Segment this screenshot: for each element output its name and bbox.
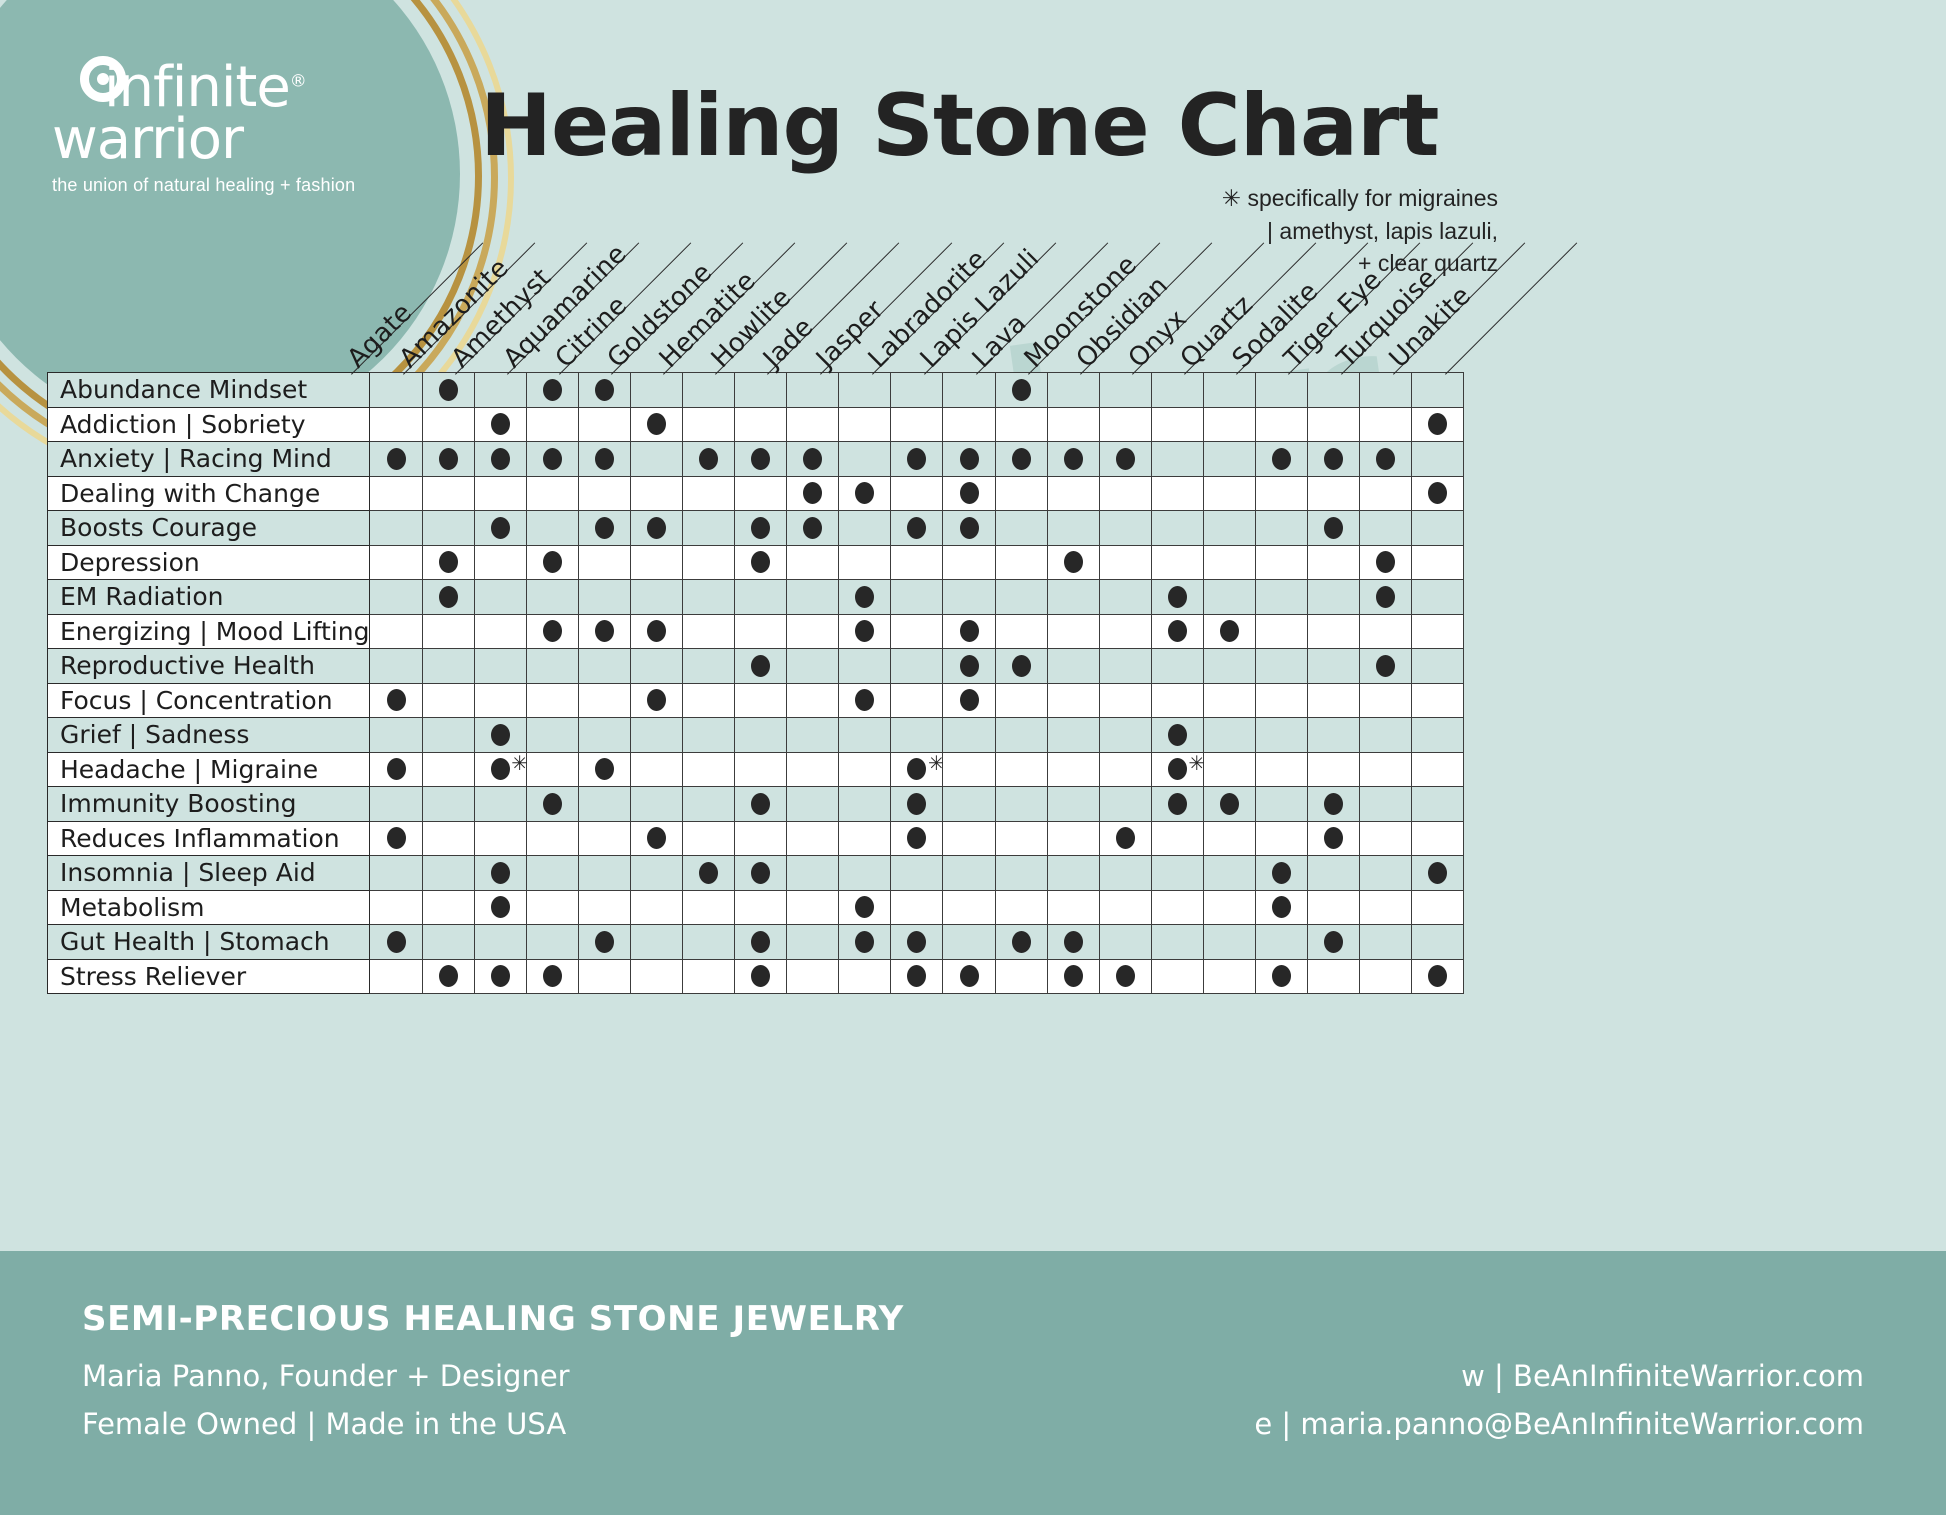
cell-agate [370,752,422,787]
benefit-dot-icon [387,931,406,953]
benefit-dot-icon [491,448,510,470]
cell-unakite [1412,856,1464,891]
cell-turquoise [1360,752,1412,787]
benefit-dot-icon [595,758,614,780]
cell-lapis-lazuli [943,545,995,580]
cell-goldstone [630,614,682,649]
table-row: Addiction | Sobriety [48,407,1464,442]
cell-lapis-lazuli [943,787,995,822]
table-row: Stress Reliever [48,959,1464,994]
benefit-dot-icon [1428,413,1447,435]
cell-sodalite [1256,683,1308,718]
cell-labradorite [891,614,943,649]
benefit-dot-icon [491,758,510,780]
cell-howlite [735,373,787,408]
cell-lava [995,476,1047,511]
benefit-dot-icon [960,620,979,642]
benefit-dot-icon [1324,931,1343,953]
cell-howlite [735,718,787,753]
cell-howlite [735,407,787,442]
cell-labradorite [891,373,943,408]
benefit-dot-icon [855,931,874,953]
benefit-dot-icon [751,551,770,573]
cell-moonstone [1047,959,1099,994]
cell-amethyst [474,925,526,960]
cell-jasper [839,821,891,856]
cell-hematite [683,511,735,546]
cell-obsidian [1099,718,1151,753]
cell-moonstone [1047,649,1099,684]
cell-onyx [1151,649,1203,684]
cell-moonstone [1047,476,1099,511]
cell-lava [995,614,1047,649]
cell-hematite [683,787,735,822]
cell-aquamarine [526,821,578,856]
cell-amethyst [474,511,526,546]
benefit-dot-icon [387,448,406,470]
table-row: Abundance Mindset [48,373,1464,408]
cell-labradorite [891,856,943,891]
cell-quartz [1203,683,1255,718]
benefit-dot-icon [647,620,666,642]
cell-lava [995,407,1047,442]
cell-agate [370,373,422,408]
cell-amethyst [474,856,526,891]
cell-onyx [1151,925,1203,960]
benefit-dot-icon [387,827,406,849]
cell-howlite [735,925,787,960]
cell-hematite [683,649,735,684]
cell-quartz [1203,649,1255,684]
benefit-dot-icon [1064,965,1083,987]
benefit-dot-icon [1012,448,1031,470]
table-row: Anxiety | Racing Mind [48,442,1464,477]
benefit-dot-icon [1324,793,1343,815]
benefit-dot-icon [439,379,458,401]
cell-lapis-lazuli [943,649,995,684]
cell-turquoise [1360,718,1412,753]
cell-labradorite: ✳ [891,752,943,787]
benefit-dot-icon [1012,655,1031,677]
cell-aquamarine [526,649,578,684]
cell-amazonite [422,476,474,511]
benefit-dot-icon [907,793,926,815]
cell-goldstone [630,890,682,925]
cell-jade [787,476,839,511]
cell-onyx [1151,787,1203,822]
table-row: Immunity Boosting [48,787,1464,822]
table-row: Metabolism [48,890,1464,925]
cell-sodalite [1256,614,1308,649]
cell-labradorite [891,718,943,753]
cell-turquoise [1360,545,1412,580]
cell-labradorite [891,511,943,546]
cell-obsidian [1099,890,1151,925]
cell-aquamarine [526,959,578,994]
cell-agate [370,442,422,477]
cell-lava [995,959,1047,994]
footer-email[interactable]: e | maria.panno@BeAnInfiniteWarrior.com [1254,1407,1864,1441]
row-label-anxiety-racing-mind: Anxiety | Racing Mind [48,442,370,477]
cell-amethyst [474,614,526,649]
cell-obsidian [1099,614,1151,649]
cell-jasper [839,959,891,994]
cell-agate [370,614,422,649]
cell-jasper [839,925,891,960]
benefit-dot-icon [439,448,458,470]
benefit-dot-icon [387,758,406,780]
benefit-dot-icon [751,655,770,677]
cell-lava [995,373,1047,408]
cell-obsidian [1099,752,1151,787]
cell-amethyst [474,649,526,684]
cell-lava [995,890,1047,925]
cell-goldstone [630,856,682,891]
cell-aquamarine [526,373,578,408]
cell-citrine [578,476,630,511]
cell-turquoise [1360,511,1412,546]
cell-tiger-eye [1308,407,1360,442]
cell-obsidian [1099,580,1151,615]
cell-agate [370,959,422,994]
cell-moonstone [1047,890,1099,925]
benefit-dot-icon [803,448,822,470]
brand-word-warrior: warrior [52,114,382,166]
benefit-dot-icon [1324,517,1343,539]
migraine-footnote-line-1: ✳ specifically for migraines [1222,182,1498,215]
cell-howlite [735,959,787,994]
cell-jasper [839,683,891,718]
benefit-dot-icon [543,620,562,642]
cell-quartz [1203,545,1255,580]
healing-stone-matrix: Abundance MindsetAddiction | SobrietyAnx… [47,372,1464,994]
cell-quartz [1203,373,1255,408]
benefit-dot-icon [960,517,979,539]
benefit-dot-icon [1376,655,1395,677]
cell-jasper [839,442,891,477]
cell-onyx [1151,511,1203,546]
cell-lava [995,683,1047,718]
footer-website[interactable]: w | BeAnInfiniteWarrior.com [1461,1359,1864,1393]
cell-amethyst [474,442,526,477]
cell-citrine [578,787,630,822]
cell-goldstone [630,442,682,477]
cell-sodalite [1256,821,1308,856]
cell-onyx [1151,442,1203,477]
migraine-footnote-line-3: + clear quartz [1222,247,1498,280]
benefit-dot-icon [1168,586,1187,608]
footer-ownership: Female Owned | Made in the USA [82,1407,566,1441]
cell-quartz [1203,959,1255,994]
cell-jasper [839,752,891,787]
row-label-focus-concentration: Focus | Concentration [48,683,370,718]
table-row: Gut Health | Stomach [48,925,1464,960]
cell-quartz [1203,752,1255,787]
cell-obsidian [1099,511,1151,546]
cell-tiger-eye [1308,821,1360,856]
benefit-dot-icon [1168,620,1187,642]
benefit-dot-icon [1272,448,1291,470]
page-title: Healing Stone Chart [480,76,1439,176]
cell-jasper [839,407,891,442]
cell-howlite [735,752,787,787]
cell-amazonite [422,959,474,994]
cell-unakite [1412,442,1464,477]
benefit-dot-icon [855,620,874,642]
cell-tiger-eye [1308,683,1360,718]
cell-onyx [1151,959,1203,994]
benefit-dot-icon [491,724,510,746]
cell-labradorite [891,959,943,994]
cell-lapis-lazuli [943,373,995,408]
brand-word-infinite: infinite [104,55,290,120]
cell-onyx [1151,614,1203,649]
benefit-dot-icon [543,793,562,815]
cell-labradorite [891,787,943,822]
benefit-dot-icon [1324,827,1343,849]
cell-tiger-eye [1308,856,1360,891]
cell-sodalite [1256,718,1308,753]
table-row: Grief | Sadness [48,718,1464,753]
benefit-dot-icon [803,482,822,504]
cell-amethyst [474,373,526,408]
benefit-dot-icon [751,931,770,953]
benefit-dot-icon [960,965,979,987]
cell-labradorite [891,649,943,684]
cell-lapis-lazuli [943,925,995,960]
cell-sodalite [1256,925,1308,960]
benefit-dot-icon [1064,448,1083,470]
cell-onyx [1151,580,1203,615]
cell-jasper [839,580,891,615]
cell-aquamarine [526,614,578,649]
cell-labradorite [891,580,943,615]
benefit-dot-icon [1272,896,1291,918]
cell-agate [370,787,422,822]
benefit-dot-icon [699,448,718,470]
cell-hematite [683,890,735,925]
table-row: Insomnia | Sleep Aid [48,856,1464,891]
brand-tagline: the union of natural healing + fashion [52,175,382,196]
cell-onyx [1151,890,1203,925]
benefit-dot-icon [1376,586,1395,608]
cell-quartz [1203,614,1255,649]
stone-benefit-table: Abundance MindsetAddiction | SobrietyAnx… [47,372,1464,994]
migraine-footnote-line-2: | amethyst, lapis lazuli, [1222,215,1498,248]
cell-jade [787,580,839,615]
benefit-dot-icon [1012,931,1031,953]
cell-amazonite [422,925,474,960]
cell-citrine [578,718,630,753]
cell-hematite [683,925,735,960]
cell-howlite [735,511,787,546]
cell-tiger-eye [1308,580,1360,615]
cell-tiger-eye [1308,476,1360,511]
registered-trademark-icon: ® [290,71,306,91]
cell-aquamarine [526,511,578,546]
cell-amethyst [474,821,526,856]
row-label-gut-health-stomach: Gut Health | Stomach [48,925,370,960]
cell-amazonite [422,407,474,442]
cell-citrine [578,925,630,960]
cell-sodalite [1256,580,1308,615]
cell-citrine [578,614,630,649]
cell-hematite [683,614,735,649]
cell-jasper [839,476,891,511]
cell-jasper [839,856,891,891]
cell-lava [995,545,1047,580]
cell-citrine [578,821,630,856]
cell-unakite [1412,373,1464,408]
cell-unakite [1412,925,1464,960]
benefit-dot-icon [1116,827,1135,849]
cell-amethyst [474,890,526,925]
cell-sodalite [1256,959,1308,994]
cell-lapis-lazuli [943,511,995,546]
cell-unakite [1412,752,1464,787]
cell-amethyst: ✳ [474,752,526,787]
cell-amazonite [422,580,474,615]
brand-logo: infinite® warrior the union of natural h… [52,62,382,196]
benefit-dot-icon [855,689,874,711]
cell-turquoise [1360,373,1412,408]
benefit-dot-icon [439,551,458,573]
benefit-dot-icon [960,448,979,470]
cell-agate [370,649,422,684]
benefit-dot-icon [907,448,926,470]
cell-jade [787,856,839,891]
benefit-dot-icon [699,862,718,884]
table-row: Boosts Courage [48,511,1464,546]
cell-sodalite [1256,752,1308,787]
cell-onyx [1151,718,1203,753]
cell-unakite [1412,787,1464,822]
cell-moonstone [1047,683,1099,718]
cell-labradorite [891,407,943,442]
cell-obsidian [1099,683,1151,718]
cell-lapis-lazuli [943,683,995,718]
cell-aquamarine [526,752,578,787]
row-label-depression: Depression [48,545,370,580]
benefit-dot-icon [907,758,926,780]
cell-onyx: ✳ [1151,752,1203,787]
cell-lapis-lazuli [943,959,995,994]
cell-unakite [1412,959,1464,994]
cell-amazonite [422,683,474,718]
cell-labradorite [891,821,943,856]
cell-citrine [578,407,630,442]
benefit-dot-icon [1168,758,1187,780]
cell-turquoise [1360,442,1412,477]
cell-goldstone [630,683,682,718]
cell-amethyst [474,580,526,615]
cell-turquoise [1360,959,1412,994]
cell-goldstone [630,476,682,511]
cell-amethyst [474,476,526,511]
row-label-abundance-mindset: Abundance Mindset [48,373,370,408]
cell-labradorite [891,476,943,511]
cell-amazonite [422,545,474,580]
cell-moonstone [1047,718,1099,753]
benefit-dot-icon [543,448,562,470]
cell-goldstone [630,925,682,960]
cell-agate [370,580,422,615]
benefit-dot-icon [1428,482,1447,504]
cell-hematite [683,373,735,408]
cell-goldstone [630,649,682,684]
cell-sodalite [1256,476,1308,511]
cell-quartz [1203,718,1255,753]
cell-amazonite [422,787,474,822]
cell-agate [370,890,422,925]
cell-obsidian [1099,787,1151,822]
cell-goldstone [630,511,682,546]
cell-moonstone [1047,821,1099,856]
cell-lapis-lazuli [943,890,995,925]
table-row: Focus | Concentration [48,683,1464,718]
benefit-dot-icon [1376,551,1395,573]
cell-citrine [578,580,630,615]
cell-aquamarine [526,925,578,960]
cell-hematite [683,545,735,580]
cell-moonstone [1047,373,1099,408]
cell-jade [787,752,839,787]
cell-aquamarine [526,580,578,615]
cell-jasper [839,718,891,753]
cell-amethyst [474,683,526,718]
cell-lava [995,856,1047,891]
cell-lapis-lazuli [943,718,995,753]
cell-unakite [1412,407,1464,442]
cell-moonstone [1047,580,1099,615]
row-label-metabolism: Metabolism [48,890,370,925]
cell-lapis-lazuli [943,580,995,615]
cell-quartz [1203,890,1255,925]
cell-obsidian [1099,442,1151,477]
cell-unakite [1412,545,1464,580]
cell-howlite [735,580,787,615]
table-row: Depression [48,545,1464,580]
cell-hematite [683,476,735,511]
migraine-footnote: ✳ specifically for migraines | amethyst,… [1222,182,1498,280]
cell-sodalite [1256,442,1308,477]
benefit-dot-icon [1272,862,1291,884]
benefit-dot-icon [543,379,562,401]
cell-onyx [1151,373,1203,408]
cell-unakite [1412,821,1464,856]
cell-jade [787,407,839,442]
benefit-dot-icon [1272,965,1291,987]
cell-tiger-eye [1308,925,1360,960]
cell-hematite [683,752,735,787]
cell-aquamarine [526,407,578,442]
cell-unakite [1412,580,1464,615]
cell-amazonite [422,890,474,925]
cell-onyx [1151,683,1203,718]
cell-obsidian [1099,925,1151,960]
cell-sodalite [1256,545,1308,580]
cell-unakite [1412,649,1464,684]
cell-sodalite [1256,890,1308,925]
cell-hematite [683,683,735,718]
cell-jasper [839,614,891,649]
cell-goldstone [630,752,682,787]
cell-quartz [1203,580,1255,615]
cell-agate [370,856,422,891]
benefit-dot-icon [647,413,666,435]
cell-amazonite [422,511,474,546]
row-label-em-radiation: EM Radiation [48,580,370,615]
